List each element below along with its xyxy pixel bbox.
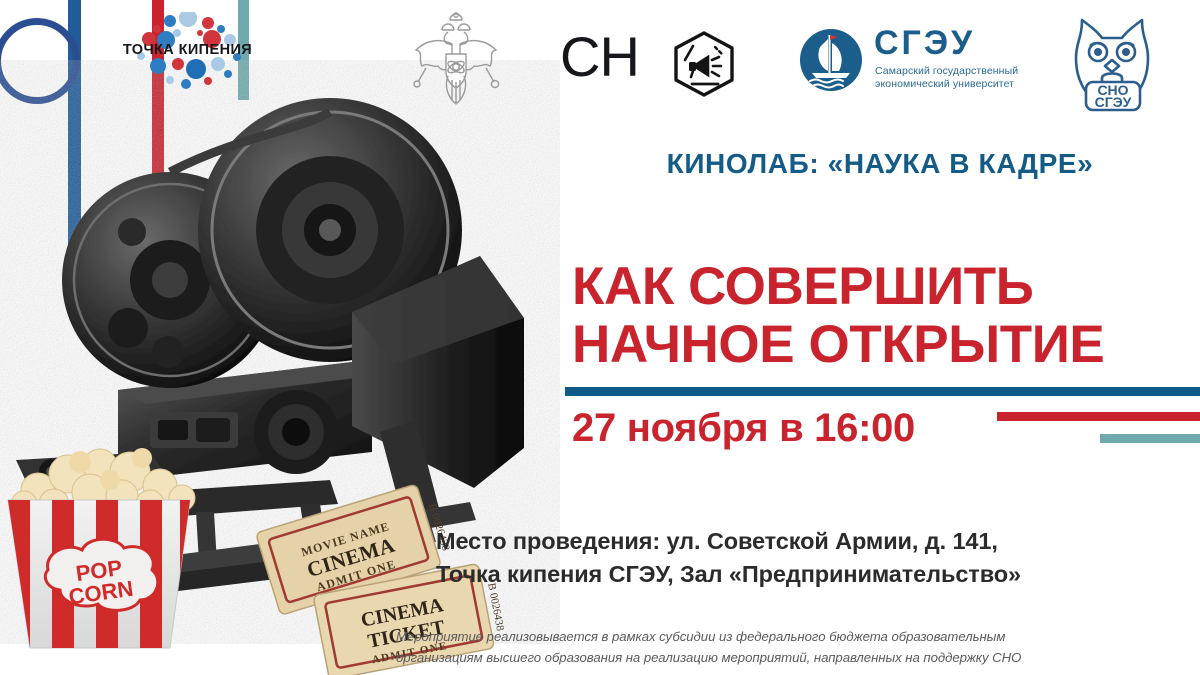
popcorn-box-illustration: POP CORN <box>8 448 196 650</box>
double-eagle-icon <box>408 10 504 110</box>
funding-disclaimer-line2: организациям высшего образования на реал… <box>396 647 1200 668</box>
event-datetime: 27 ноября в 16:00 <box>572 406 915 451</box>
event-venue-line1: Место проведения: ул. Советской Армии, д… <box>436 525 1196 558</box>
tochka-kipeniya-wordmark: ТОЧКА КИПЕНИЯ <box>100 42 275 58</box>
tochka-kipeniya-logo: ТОЧКА КИПЕНИЯ <box>100 12 275 92</box>
program-title: КИНОЛАБ: «НАУКА В КАДРЕ» <box>560 148 1200 180</box>
event-venue: Место проведения: ул. Советской Армии, д… <box>436 525 1196 591</box>
sno-sgeu-owl-logo: СНО СГЭУ <box>1060 8 1164 116</box>
sno-logo: СН <box>560 24 740 96</box>
sgeu-logo: СГЭУ Самарский государственный экономиче… <box>798 25 1033 97</box>
partner-logo-strip: ТОЧКА КИПЕНИЯ <box>0 0 1200 120</box>
sgeu-full-name: Самарский государственный экономический … <box>875 65 1040 91</box>
event-headline-line1: КАК СОВЕРШИТЬ <box>572 258 1200 316</box>
funding-disclaimer: Мероприятие реализовывается в рамках суб… <box>396 626 1200 668</box>
accent-bar-red <box>997 412 1200 421</box>
sgeu-abbreviation: СГЭУ <box>874 26 975 60</box>
owl-logo-line2: СГЭУ <box>1095 94 1132 110</box>
sailing-ship-circle-icon <box>798 27 864 93</box>
event-venue-line2: Точка кипения СГЭУ, Зал «Предприниматель… <box>436 558 1196 591</box>
accent-bar-teal <box>1100 434 1200 443</box>
event-headline-line2: НАЧНОЕ ОТКРЫТИЕ <box>572 316 1200 374</box>
sgeu-full-name-line2: экономический университет <box>875 78 1040 91</box>
sgeu-full-name-line1: Самарский государственный <box>875 65 1040 78</box>
owl-icon: СНО СГЭУ <box>1060 8 1164 116</box>
megaphone-hexagon-icon <box>668 30 740 98</box>
event-poster: MOVIE NAME CINEMA ADMIT ONE B 0026438 CI… <box>0 0 1200 675</box>
accent-bar-blue <box>565 387 1200 396</box>
sno-wordmark: СН <box>560 26 639 88</box>
event-headline: КАК СОВЕРШИТЬ НАЧНОЕ ОТКРЫТИЕ <box>572 258 1200 374</box>
russian-federation-double-eagle-emblem <box>408 10 504 110</box>
funding-disclaimer-line1: Мероприятие реализовывается в рамках суб… <box>396 626 1200 647</box>
